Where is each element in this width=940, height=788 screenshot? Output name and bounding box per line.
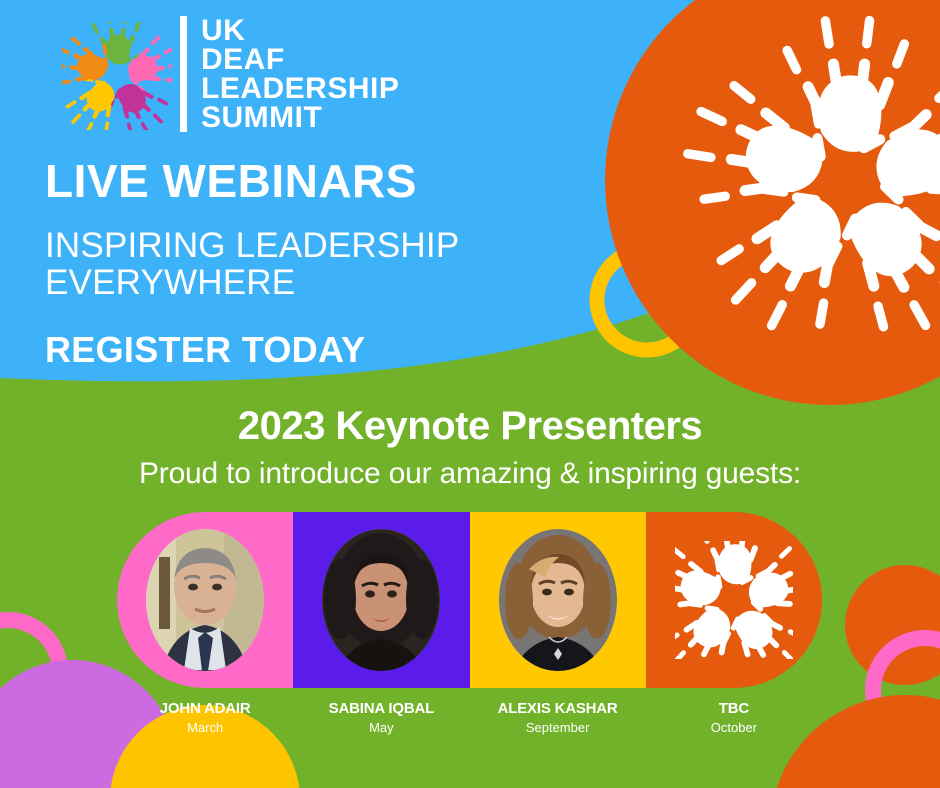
section-subtitle: Proud to introduce our amazing & inspiri… bbox=[0, 457, 940, 491]
presenter-panel-tbc[interactable] bbox=[646, 512, 822, 688]
logo-line-deaf: DEAF bbox=[201, 45, 399, 74]
presenter-panel-john-adair[interactable] bbox=[117, 512, 293, 688]
header-text-block: LIVE WEBINARS INSPIRING LEADERSHIP EVERY… bbox=[45, 155, 565, 371]
presenter-panel-alexis-kashar[interactable] bbox=[470, 512, 646, 688]
section-title: 2023 Keynote Presenters bbox=[0, 404, 940, 449]
subheadline-line-2: EVERYWHERE bbox=[45, 264, 565, 301]
caption-john-adair: JOHN ADAIR March bbox=[117, 700, 293, 746]
poster-canvas: UK DEAF LEADERSHIP SUMMIT LIVE WEBINARS … bbox=[0, 0, 940, 788]
presenter-month: October bbox=[646, 718, 822, 737]
presenter-name: ALEXIS KASHAR bbox=[470, 700, 646, 718]
presenter-panel-sabina-iqbal[interactable] bbox=[293, 512, 469, 688]
logo-hands-icon bbox=[62, 22, 172, 130]
logo-wordmark: UK DEAF LEADERSHIP SUMMIT bbox=[180, 16, 399, 132]
presenter-photo-sabina-iqbal bbox=[322, 529, 440, 671]
caption-sabina-iqbal: SABINA IQBAL May bbox=[293, 700, 469, 746]
brand-logo: UK DEAF LEADERSHIP SUMMIT bbox=[62, 14, 402, 134]
caption-alexis-kashar: ALEXIS KASHAR September bbox=[470, 700, 646, 746]
caption-tbc: TBC October bbox=[646, 700, 822, 746]
subheadline-line-1: INSPIRING LEADERSHIP bbox=[45, 227, 565, 264]
logo-line-leadership: LEADERSHIP bbox=[201, 74, 399, 103]
presenter-name: TBC bbox=[646, 700, 822, 718]
subheadline: INSPIRING LEADERSHIP EVERYWHERE bbox=[45, 227, 565, 301]
presenter-month: March bbox=[117, 718, 293, 737]
presenter-month: September bbox=[470, 718, 646, 737]
presenter-strip bbox=[117, 512, 822, 688]
headline: LIVE WEBINARS bbox=[45, 155, 565, 207]
presenter-name: JOHN ADAIR bbox=[117, 700, 293, 718]
register-cta[interactable]: REGISTER TODAY bbox=[45, 329, 565, 371]
logo-line-summit: SUMMIT bbox=[201, 103, 399, 132]
presenter-month: May bbox=[293, 718, 469, 737]
presenter-photo-alexis-kashar bbox=[499, 529, 617, 671]
presenter-name: SABINA IQBAL bbox=[293, 700, 469, 718]
presenter-captions: JOHN ADAIR March SABINA IQBAL May ALEXIS… bbox=[117, 700, 822, 746]
tbc-hands-icon bbox=[675, 541, 793, 659]
logo-line-uk: UK bbox=[201, 16, 399, 45]
presenter-photo-john-adair bbox=[146, 529, 264, 671]
